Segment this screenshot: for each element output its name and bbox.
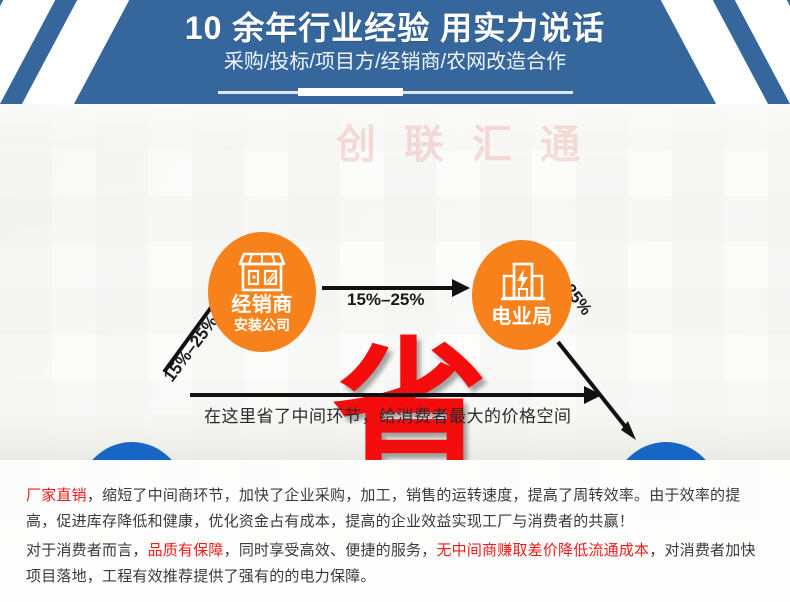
node-power-bureau-label: 电业局	[491, 306, 553, 328]
edge-label-brand-to-consumer: 在这里省了中间环节，给消费者最大的价格空间	[204, 402, 572, 427]
description-section: 厂家直销，缩短了中间商环节，加快了企业采购，加工，销售的运转速度，提高了周转效率…	[0, 460, 790, 602]
paragraph-2-highlight-2: 无中间商赚取差价降低流通成本	[436, 542, 649, 559]
paragraph-2-highlight-1: 品质有保障	[148, 542, 224, 559]
flow-diagram: 创联汇通 省 1	[0, 104, 790, 460]
paragraph-1-body: ，缩短了中间商环节，加快了企业采购，加工，销售的运转速度，提高了周转效率。由于效…	[26, 487, 740, 530]
node-power-bureau[interactable]: 电业局	[472, 240, 572, 350]
banner-title: 10 余年行业经验 用实力说话	[185, 9, 605, 47]
power-building-icon	[497, 262, 547, 304]
description-paragraph-1: 厂家直销，缩短了中间商环节，加快了企业采购，加工，销售的运转速度，提高了周转效率…	[26, 483, 770, 535]
paragraph-1-highlight: 厂家直销	[26, 487, 87, 504]
edge-label-dealer-to-bureau: 15%–25%	[347, 290, 425, 310]
header-banner: 10 余年行业经验 用实力说话 采购/投标/项目方/经销商/农网改造合作	[0, 0, 790, 104]
paragraph-2-middle: ，同时享受高效、便捷的服务，	[224, 542, 437, 559]
banner-subtitle: 采购/投标/项目方/经销商/农网改造合作	[224, 50, 566, 74]
node-dealer-sublabel: 安装公司	[234, 317, 290, 333]
description-paragraph-2: 对于消费者而言，品质有保障，同时享受高效、便捷的服务，无中间商赚取差价降低流通成…	[26, 538, 770, 590]
promo-page: 10 余年行业经验 用实力说话 采购/投标/项目方/经销商/农网改造合作 创联汇…	[0, 0, 790, 602]
banner-divider-center	[298, 88, 403, 96]
node-dealer[interactable]: 经销商 安装公司	[208, 232, 316, 352]
paragraph-2-lead: 对于消费者而言，	[26, 542, 148, 559]
node-dealer-label: 经销商	[231, 294, 293, 316]
shop-icon	[234, 252, 290, 292]
